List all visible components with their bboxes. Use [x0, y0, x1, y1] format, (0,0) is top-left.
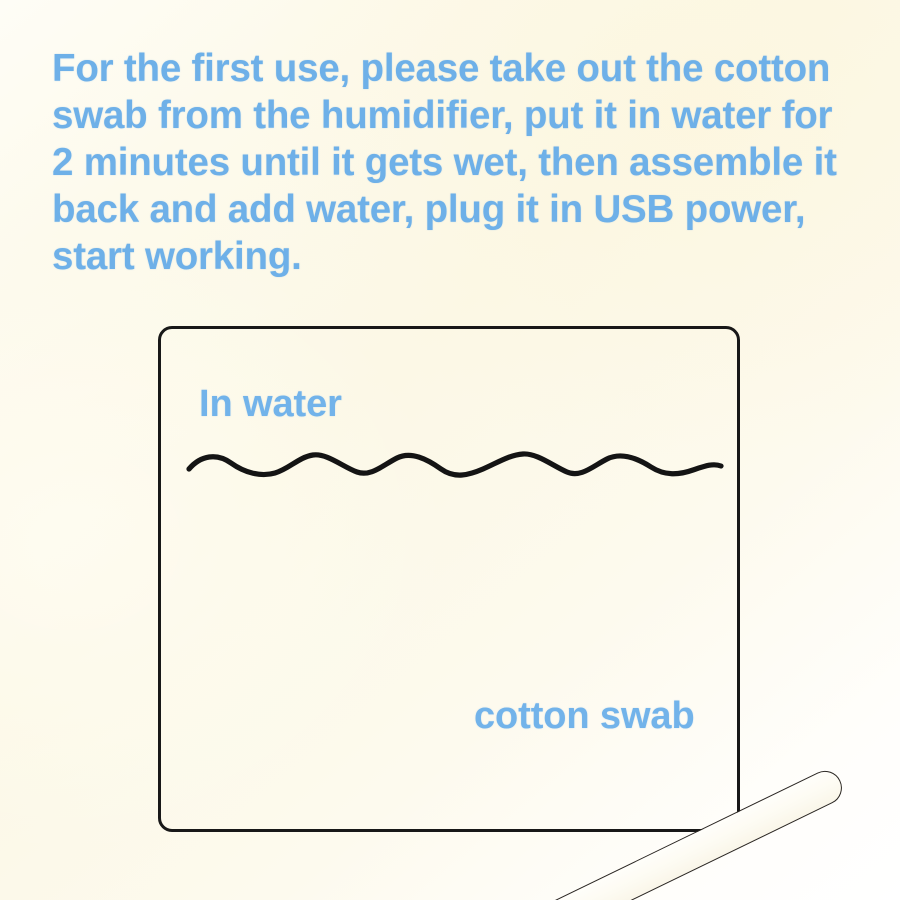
cotton-swab-label: cotton swab [474, 695, 695, 738]
illustration-panel: In water cotton swab [158, 326, 740, 832]
instruction-paragraph: For the first use, please take out the c… [52, 45, 862, 280]
illustration-page: For the first use, please take out the c… [0, 0, 900, 900]
in-water-label: In water [199, 383, 342, 426]
water-surface-wave-icon [187, 447, 723, 481]
cotton-swab-shape [414, 765, 848, 900]
